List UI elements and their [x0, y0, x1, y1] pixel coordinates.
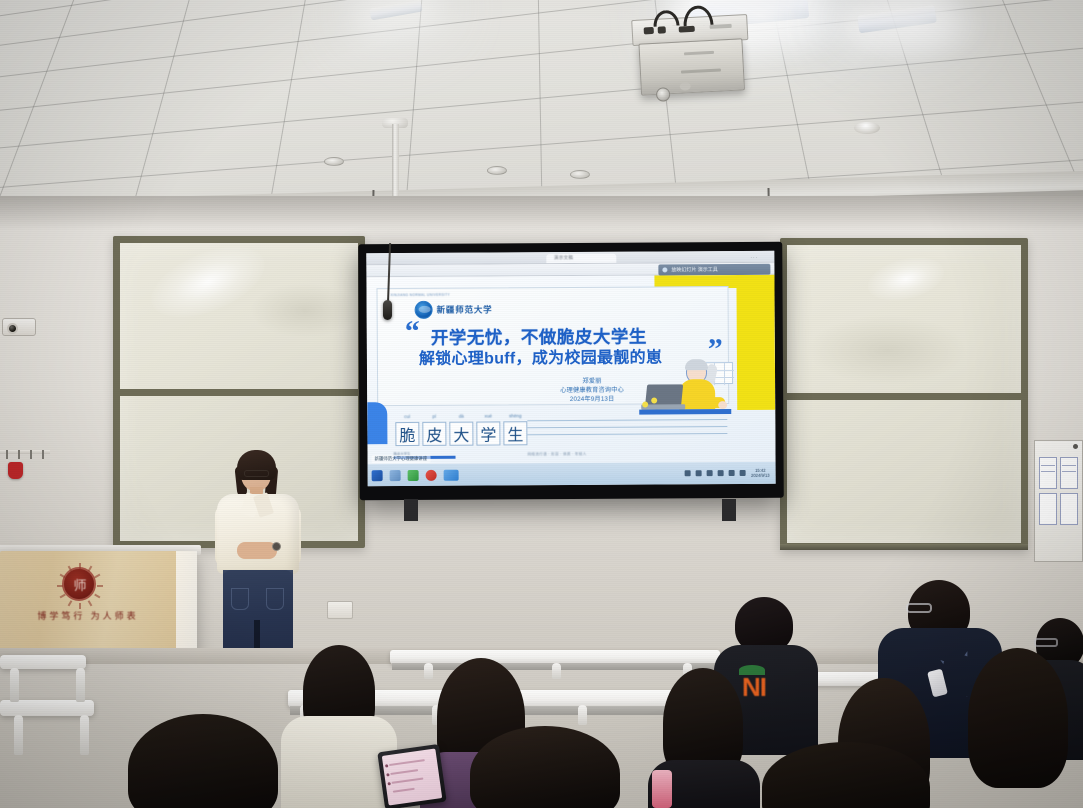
seal-ray-4 [97, 585, 103, 587]
wps-slideshow-label: 放映幻灯片 演示工具 [671, 266, 717, 273]
slide-title-line2: 解锁心理buff，成为校园最靓的崽 [419, 343, 662, 368]
projector-port-1 [644, 27, 654, 35]
coat-hook-1 [6, 450, 8, 459]
ceiling-projector [631, 14, 751, 92]
coat-hook-3 [30, 450, 32, 459]
projector-port-2 [658, 26, 666, 33]
tablet-content-line-3 [391, 777, 423, 783]
bench-row-back [390, 650, 720, 664]
wall-top-shadow [0, 196, 1083, 230]
audience-glasses-fr [1034, 638, 1058, 647]
illustration-hair [685, 359, 708, 370]
seal-ray-1 [79, 563, 81, 569]
notice-line-2 [1041, 471, 1055, 472]
display-stand-left [404, 499, 418, 521]
whiteboard-sheen-right [863, 250, 948, 308]
presenter-pocket-right [266, 588, 284, 610]
tablet-bullet-1 [385, 764, 388, 767]
classroom-chair-back [0, 655, 86, 669]
smoke-detector-2 [487, 166, 507, 175]
surveillance-camera [2, 318, 36, 336]
coat-hook-4 [42, 450, 44, 459]
projector-body [638, 38, 745, 95]
smoke-detector-1 [324, 157, 344, 166]
windows-taskbar[interactable]: 新疆师范大学心理健康讲座 15:42 2024/9/13 [368, 462, 776, 486]
user-icon[interactable] [718, 470, 724, 476]
slide-char-cell-1: cuì脆 [395, 422, 419, 446]
slide-accent-left-blue [367, 402, 387, 444]
slide-footer-note-2: 网络流行语 · 形容 · 体质 · 年轻人 [527, 452, 586, 457]
seal-ray-11 [60, 574, 66, 579]
slide-char-glyph-3: 大 [453, 422, 469, 446]
chevron-up-icon[interactable] [685, 470, 691, 476]
chair-leg-4 [80, 715, 89, 755]
tablet-device[interactable] [377, 744, 446, 808]
presentation-slide: 新疆师范大学 XINJIANG NORMAL UNIVERSITY “ 开学无忧… [366, 275, 775, 464]
slide-char-pinyin-2: pí [423, 414, 445, 419]
tablet-bullet-2 [386, 773, 389, 776]
university-seal-emblem: 师 [62, 567, 96, 601]
slide-char-pinyin-3: dà [450, 414, 472, 419]
whiteboard-sheen-left [142, 233, 275, 332]
projector-port-3 [679, 26, 695, 33]
smoke-detector-3 [570, 170, 590, 179]
slide-char-cell-2: pí皮 [422, 422, 446, 446]
tablet-content-line-4 [393, 788, 415, 793]
bench-leg-m3 [578, 705, 587, 725]
seal-ray-5 [94, 594, 100, 599]
camera-lens-icon [7, 323, 18, 334]
slide-char-pinyin-1: cuì [396, 414, 418, 419]
presenter-pocket-left [231, 588, 249, 610]
seal-ray-10 [57, 585, 63, 587]
university-logo: 新疆师范大学 [415, 300, 493, 318]
tablet-screen[interactable] [382, 748, 442, 805]
ni-shirt-graphic: NI [742, 672, 766, 703]
illustration-desk-line [639, 409, 731, 415]
ceiling-speaker [854, 122, 880, 134]
notice-line-4 [1062, 471, 1076, 472]
projector-vent-strip [681, 68, 721, 73]
browser-tab-label: 演示文稿 [554, 255, 573, 261]
taskbar-clock-date: 2024/9/13 [751, 473, 770, 478]
seal-ray-6 [88, 600, 93, 606]
illustration-calendar-line-4 [724, 363, 725, 385]
ni-shirt-leaf-graphic [739, 665, 765, 675]
seal-ray-3 [94, 574, 100, 579]
slide-char-glyph-2: 皮 [426, 422, 442, 446]
taskbar-clock[interactable]: 15:42 2024/9/13 [751, 468, 770, 478]
slide-accent-right [736, 275, 775, 410]
slide-blank-lines [527, 419, 727, 441]
chair-leg-2 [76, 668, 85, 702]
slide-character-row: cuì脆pí皮dà大xué学shēng生 [395, 421, 527, 446]
illustration-hand [718, 401, 727, 409]
bench-leg-b2 [552, 663, 561, 679]
wps-play-icon [662, 267, 667, 272]
slide-blank-line-1 [527, 419, 727, 421]
chair-leg-3 [14, 715, 23, 755]
whiteboard-panel-right [780, 238, 1028, 550]
wall-outlet-left [327, 601, 353, 619]
podium-seal-glyph: 师 [73, 575, 84, 594]
display-screen[interactable]: 演示文稿 ··· 放映幻灯片 演示工具 新疆师范大学 XINJIANG NORM… [366, 251, 775, 486]
tablet-content-line-1 [389, 759, 425, 766]
wps-icon[interactable] [444, 469, 459, 480]
recorder-icon[interactable] [426, 469, 437, 480]
slide-char-pinyin-5: shēng [504, 413, 526, 418]
red-hanging-item [8, 462, 23, 479]
slide-char-cell-4: xué学 [476, 421, 500, 445]
illustration-laptop-screen [645, 384, 683, 405]
wall-mounted-display[interactable]: 演示文稿 ··· 放映幻灯片 演示工具 新疆师范大学 XINJIANG NORM… [358, 242, 784, 501]
audience-hair-frf [968, 648, 1068, 788]
university-logo-name: 新疆师范大学 [437, 303, 493, 315]
tablet-content-line-2 [390, 769, 418, 775]
presenter-wristwatch [272, 542, 281, 551]
notice-cell-4 [1060, 493, 1078, 525]
display-stand-right [722, 499, 736, 521]
volume-icon[interactable] [729, 470, 735, 476]
whiteboard-smudge-right [807, 315, 967, 385]
tablet-bullet-3 [388, 782, 391, 785]
projector-focus-dial [680, 82, 691, 91]
battery-icon[interactable] [740, 470, 746, 476]
coat-hook-2 [18, 450, 20, 459]
network-icon[interactable] [696, 470, 702, 476]
start-icon[interactable] [372, 470, 383, 481]
hanging-microphone [383, 300, 392, 320]
shield-icon[interactable] [707, 470, 713, 476]
illustration-accent-dot-2 [642, 402, 648, 408]
search-icon[interactable] [390, 470, 401, 481]
seal-ray-12 [68, 566, 73, 572]
taskbar-window-title: 新疆师范大学心理健康讲座 [372, 455, 431, 463]
slide-char-pinyin-4: xué [477, 413, 499, 418]
projector-brand-label [684, 51, 714, 56]
slide-char-glyph-4: 学 [480, 421, 496, 445]
slide-char-glyph-1: 脆 [399, 422, 415, 446]
slide-char-cell-3: dà大 [449, 422, 473, 446]
quote-open-icon: “ [405, 315, 420, 349]
seal-ray-2 [88, 566, 93, 572]
wall-notice-schedule [1034, 440, 1083, 562]
notice-line-1 [1041, 465, 1055, 466]
notice-cell-3 [1039, 493, 1057, 525]
whiteboard-tray-right [780, 544, 1028, 550]
audience-glasses [906, 603, 932, 613]
whiteboard-split-left [120, 389, 358, 396]
notice-cell-1 [1039, 457, 1057, 489]
bench-leg-b1 [424, 663, 433, 679]
notice-cell-2 [1060, 457, 1078, 489]
whiteboard-smudge-left [250, 283, 360, 338]
illustration-accent-dot-1 [651, 397, 657, 403]
notice-line-3 [1062, 465, 1076, 466]
wps-slideshow-bar[interactable]: 放映幻灯片 演示工具 [658, 264, 770, 276]
slide-char-cell-5: shēng生 [503, 421, 527, 445]
presenter-glasses [244, 470, 269, 477]
whiteboard-split-right [787, 393, 1021, 400]
browser-menu-icon[interactable]: ··· [750, 255, 758, 261]
notice-pin-icon [1073, 444, 1078, 449]
classroom-photo-scene: 演示文稿 ··· 放映幻灯片 演示工具 新疆师范大学 XINJIANG NORM… [0, 0, 1083, 808]
seal-ray-8 [68, 600, 73, 606]
podium-motto: 博学笃行 为人师表 [0, 609, 176, 622]
chair-leg-1 [10, 668, 19, 702]
browser-icon[interactable] [408, 469, 419, 480]
girl-with-laptop-illustration [639, 352, 731, 415]
taskbar-tray[interactable]: 15:42 2024/9/13 [685, 468, 772, 479]
pink-bottle[interactable] [652, 770, 672, 808]
classroom-chair-seat [0, 700, 94, 716]
university-logo-subtitle: XINJIANG NORMAL UNIVERSITY [391, 293, 451, 297]
slide-blank-line-3 [527, 433, 727, 435]
presenter-hands [237, 542, 277, 559]
slide-blank-line-2 [527, 426, 727, 428]
seal-ray-9 [60, 594, 66, 599]
slide-char-glyph-5: 生 [507, 421, 523, 445]
